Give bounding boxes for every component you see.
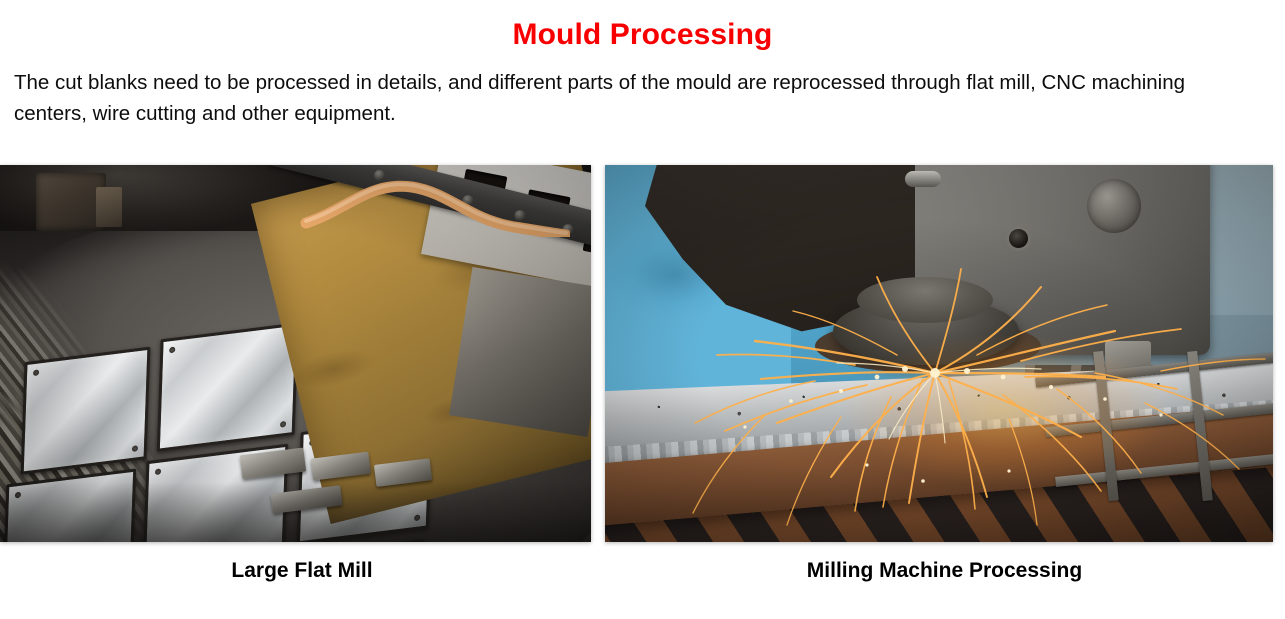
photo-large-flat-mill[interactable] (0, 165, 591, 542)
photo-milling-machine[interactable] (605, 165, 1273, 542)
caption-large-flat-mill: Large Flat Mill (0, 556, 604, 602)
mould-processing-section: Mould Processing The cut blanks need to … (0, 0, 1285, 619)
page-title: Mould Processing (0, 0, 1285, 50)
caption-row: Large Flat Mill Milling Machine Processi… (0, 556, 1285, 602)
milling-vignette (605, 165, 1273, 542)
image-gallery (0, 165, 1285, 542)
flat-mill-vignette (0, 165, 591, 542)
caption-milling-machine-processing: Milling Machine Processing (604, 556, 1285, 602)
section-description: The cut blanks need to be processed in d… (0, 50, 1230, 129)
